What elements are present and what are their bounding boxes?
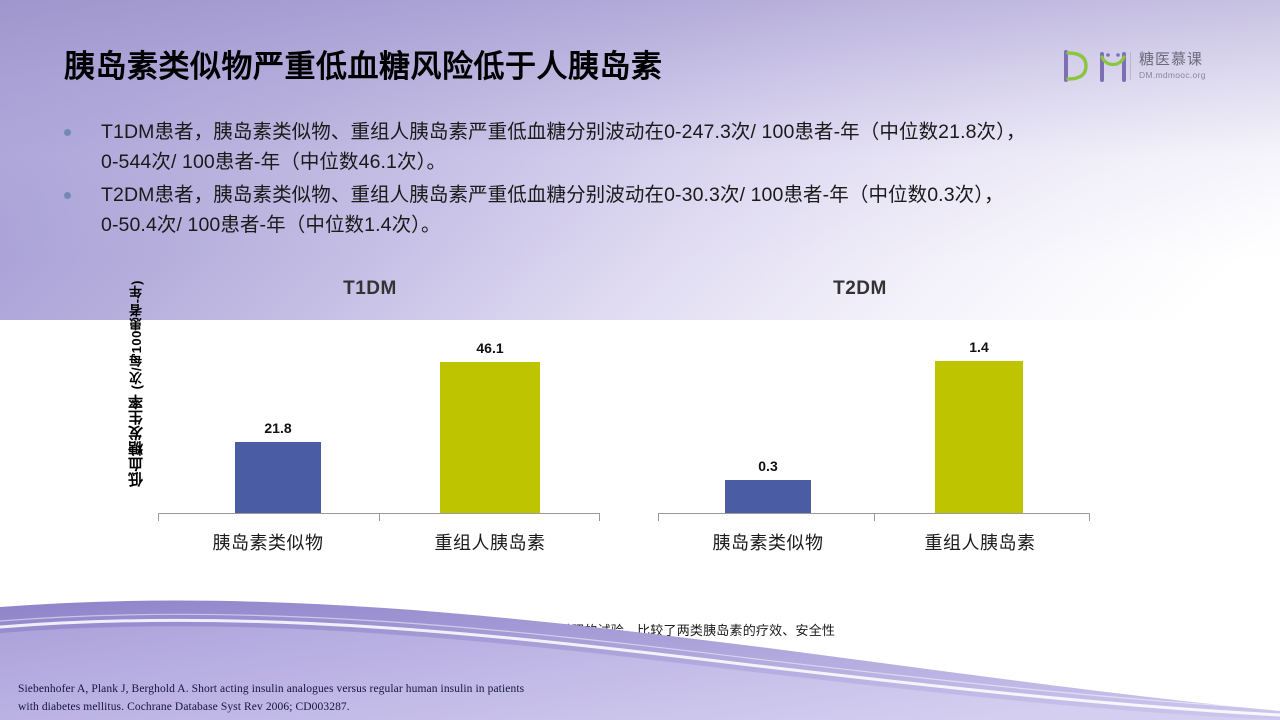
- bullet-dot-icon: [64, 192, 71, 199]
- logo-url: DM.mdmooc.org: [1139, 70, 1206, 80]
- logo-text-block: 糖医慕课 DM.mdmooc.org: [1139, 52, 1206, 81]
- chart-t2dm-category-human: 重组人胰岛素: [870, 529, 1090, 555]
- slide-canvas: 胰岛素类似物严重低血糖风险低于人胰岛素 糖医慕课 DM.mdmooc.org: [0, 0, 1280, 720]
- chart-t1dm-category-analogue: 胰岛素类似物: [158, 529, 378, 555]
- bullet-dot-icon: [64, 129, 71, 136]
- axis-tick: [599, 513, 600, 521]
- dm-monogram-icon: [1062, 49, 1128, 83]
- citation-line-1: Siebenhofer A, Plank J, Berghold A. Shor…: [18, 681, 658, 699]
- bar-t1dm-human: [440, 362, 540, 513]
- bullet-2-line-1: T2DM患者，胰岛素类似物、重组人胰岛素严重低血糖分别波动在0-30.3次/ 1…: [101, 181, 1004, 211]
- page-title: 胰岛素类似物严重低血糖风险低于人胰岛素: [64, 41, 663, 86]
- chart-t1dm-plot: 21.8 46.1 胰岛素类似物 重组人胰岛素: [120, 265, 620, 565]
- axis-tick: [874, 513, 875, 521]
- chart-t1dm-category-human: 重组人胰岛素: [380, 529, 600, 555]
- bar-t2dm-analogue: [725, 480, 811, 513]
- charts-container: T1DM 低血糖发生率 (次/每100患者-年) 21.8 46.1 胰岛素类似…: [0, 265, 1280, 575]
- bar-value-t2dm-human: 1.4: [919, 339, 1039, 355]
- bar-t2dm-human: [935, 361, 1023, 513]
- bar-value-t1dm-human: 46.1: [430, 340, 550, 356]
- axis-tick: [658, 513, 659, 521]
- bullet-list: T1DM患者，胰岛素类似物、重组人胰岛素严重低血糖分别波动在0-247.3次/ …: [56, 118, 1256, 245]
- bullet-text-1: T1DM患者，胰岛素类似物、重组人胰岛素严重低血糖分别波动在0-247.3次/ …: [101, 118, 1026, 177]
- chart-t2dm: T2DM 0.3 1.4 胰岛素类似物 重组人胰岛素: [610, 265, 1110, 565]
- logo-divider: [1130, 52, 1131, 80]
- bar-t1dm-analogue: [235, 442, 321, 513]
- bullet-item-2: T2DM患者，胰岛素类似物、重组人胰岛素严重低血糖分别波动在0-30.3次/ 1…: [56, 181, 1256, 240]
- bar-value-t1dm-analogue: 21.8: [218, 420, 338, 436]
- chart-t2dm-plot: 0.3 1.4 胰岛素类似物 重组人胰岛素: [610, 265, 1110, 565]
- logo-name-cn: 糖医慕课: [1139, 52, 1206, 69]
- brand-logo: 糖医慕课 DM.mdmooc.org: [1062, 44, 1214, 88]
- bullet-2-line-2: 0-50.4次/ 100患者-年（中位数1.4次）。: [101, 211, 1004, 241]
- axis-tick: [158, 513, 159, 521]
- axis-tick: [1089, 513, 1090, 521]
- axis-tick: [379, 513, 380, 521]
- bar-value-t2dm-analogue: 0.3: [708, 458, 828, 474]
- chart-t2dm-category-analogue: 胰岛素类似物: [658, 529, 878, 555]
- bullet-item-1: T1DM患者，胰岛素类似物、重组人胰岛素严重低血糖分别波动在0-247.3次/ …: [56, 118, 1256, 177]
- citation: Siebenhofer A, Plank J, Berghold A. Shor…: [18, 681, 658, 717]
- bullet-text-2: T2DM患者，胰岛素类似物、重组人胰岛素严重低血糖分别波动在0-30.3次/ 1…: [101, 181, 1004, 240]
- bullet-1-line-2: 0-544次/ 100患者-年（中位数46.1次）。: [101, 148, 1026, 178]
- chart-t1dm: T1DM 低血糖发生率 (次/每100患者-年) 21.8 46.1 胰岛素类似…: [120, 265, 620, 565]
- citation-line-2: with diabetes mellitus. Cochrane Databas…: [18, 699, 658, 717]
- bullet-1-line-1: T1DM患者，胰岛素类似物、重组人胰岛素严重低血糖分别波动在0-247.3次/ …: [101, 118, 1026, 148]
